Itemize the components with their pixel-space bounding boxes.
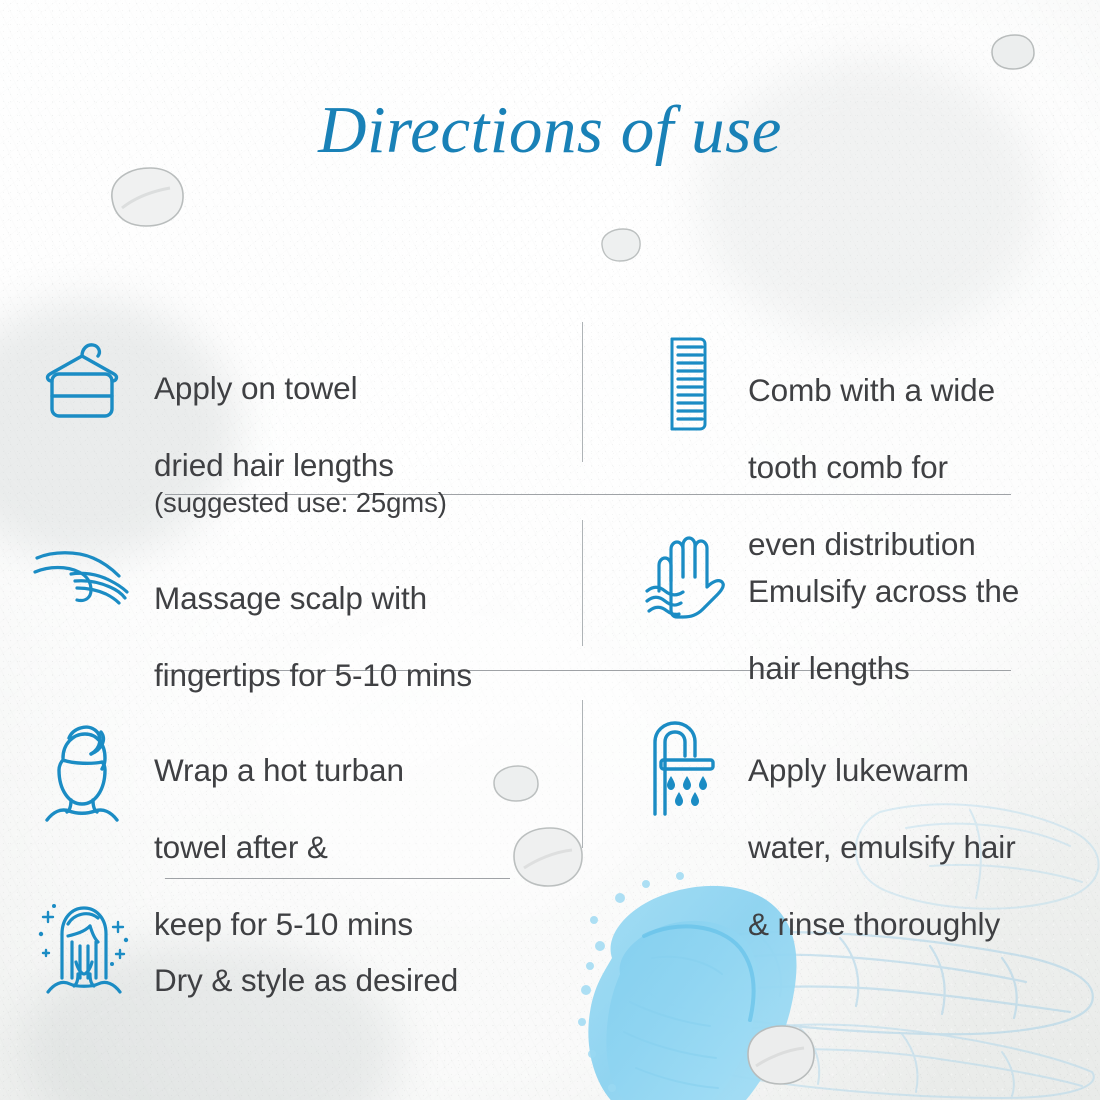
step-line-3: & rinse thoroughly (748, 906, 1000, 942)
shower-head-icon (640, 712, 730, 816)
step-item-dry-and-style: Dry & style as desired (28, 900, 458, 999)
step-item-rinse: Apply lukewarm water, emulsify hair & ri… (640, 712, 1016, 943)
step-line-1: Massage scalp with (154, 580, 427, 616)
poster-canvas: Directions of use Apply on (0, 0, 1100, 1100)
step-text: Apply on towel dried hair lengths (sugge… (136, 330, 447, 561)
step-line-2: water, emulsify hair (748, 829, 1016, 865)
step-text: Apply lukewarm water, emulsify hair & ri… (730, 712, 1016, 943)
step-line-1: Dry & style as desired (154, 962, 458, 998)
step-line-1: Wrap a hot turban (154, 752, 404, 788)
massaging-hand-icon (28, 540, 136, 606)
wide-tooth-comb-icon (640, 332, 730, 434)
step-line-1: Comb with a wide (748, 372, 995, 408)
step-note: (suggested use: 25gms) (154, 484, 447, 522)
step-text: Massage scalp with fingertips for 5-10 m… (136, 540, 472, 694)
step-line-1: Apply lukewarm (748, 752, 969, 788)
step-item-massage-scalp: Massage scalp with fingertips for 5-10 m… (28, 540, 472, 694)
step-item-apply-on-towel: Apply on towel dried hair lengths (sugge… (28, 330, 447, 561)
step-text: Comb with a wide tooth comb for even dis… (730, 332, 995, 563)
step-text: Dry & style as desired (136, 900, 458, 999)
step-line-2: towel after & (154, 829, 328, 865)
directions-step-list: Apply on towel dried hair lengths (sugge… (0, 0, 1100, 1100)
step-item-emulsify: Emulsify across the hair lengths (640, 533, 1019, 687)
head-with-turban-towel-icon (28, 712, 136, 824)
step-line-1: Emulsify across the (748, 573, 1019, 609)
step-item-comb: Comb with a wide tooth comb for even dis… (640, 332, 995, 563)
step-line-2: dried hair lengths (154, 447, 394, 483)
step-line-2: fingertips for 5-10 mins (154, 657, 472, 693)
step-line-2: hair lengths (748, 650, 910, 686)
step-text: Emulsify across the hair lengths (730, 533, 1019, 687)
towel-on-hanger-icon (28, 330, 136, 422)
step-line-1: Apply on towel (154, 370, 357, 406)
woman-with-styled-hair-icon (28, 900, 136, 994)
open-palm-with-water-icon (640, 533, 730, 621)
step-line-2: tooth comb for (748, 449, 948, 485)
